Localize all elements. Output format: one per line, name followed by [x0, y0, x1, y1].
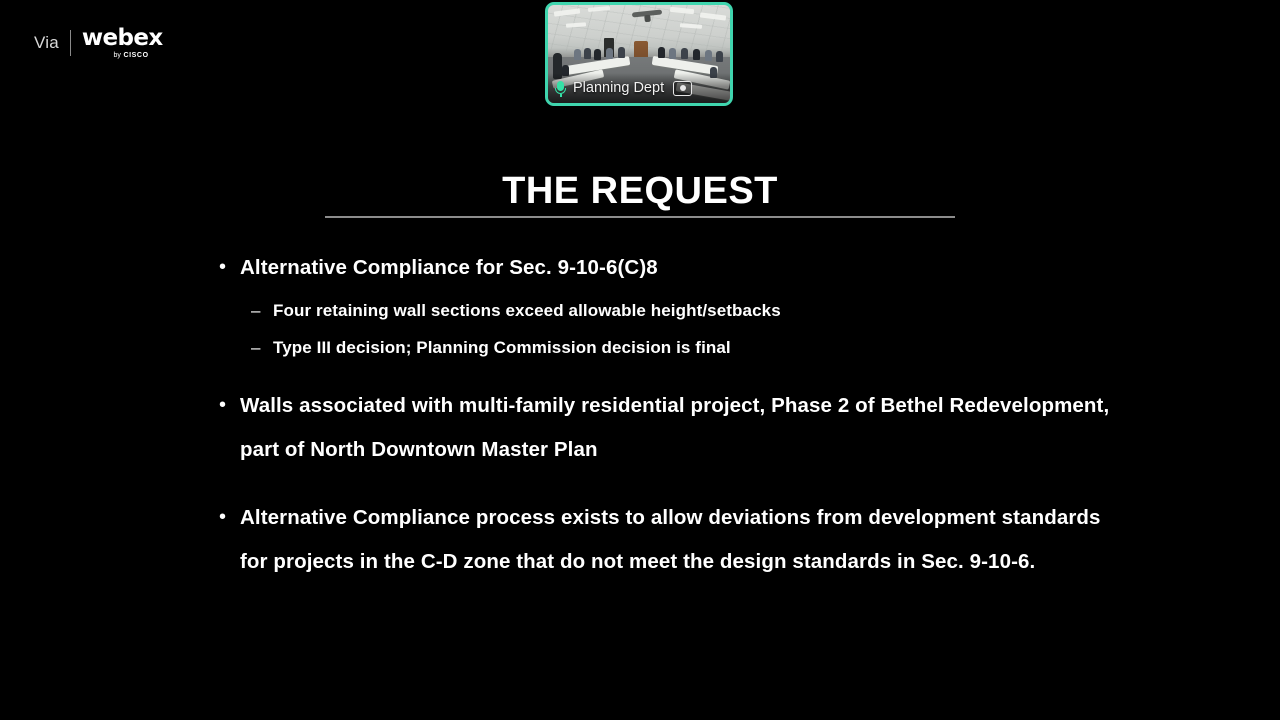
attendee — [658, 47, 665, 58]
attendee — [574, 49, 581, 60]
bullet-item: • Walls associated with multi-family res… — [210, 384, 1110, 472]
spacer — [210, 474, 1110, 496]
screen-share-icon[interactable] — [673, 81, 692, 96]
bullet-item: • Alternative Compliance for Sec. 9-10-6… — [210, 246, 1110, 290]
bullet-text: Walls associated with multi-family resid… — [240, 384, 1110, 472]
participant-name: Planning Dept — [573, 80, 664, 96]
webex-wordmark: webex — [82, 27, 163, 50]
cisco-byline: by CISCO — [114, 52, 149, 59]
sub-bullet-text: Four retaining wall sections exceed allo… — [273, 292, 781, 329]
attendee — [606, 48, 613, 59]
watermark-divider — [70, 30, 71, 56]
attendee — [594, 49, 601, 60]
sub-bullet-item: – Type III decision; Planning Commission… — [251, 329, 1110, 366]
slide-title: THE REQUEST — [0, 170, 1280, 213]
attendee — [669, 48, 676, 59]
sub-bullet-marker: – — [251, 329, 273, 366]
watermark-via-label: Via — [34, 33, 70, 53]
attendee — [716, 51, 723, 62]
cisco-byline-prefix: by — [114, 52, 121, 59]
attendee — [705, 50, 712, 61]
bullet-marker: • — [210, 246, 240, 288]
attendee — [618, 47, 625, 58]
webex-logo: webex by CISCO — [82, 27, 163, 59]
bullet-text: Alternative Compliance for Sec. 9-10-6(C… — [240, 246, 658, 290]
attendee — [584, 48, 591, 59]
cisco-byline-brand: CISCO — [123, 52, 148, 59]
spacer — [210, 366, 1110, 384]
slide-body: • Alternative Compliance for Sec. 9-10-6… — [210, 246, 1110, 586]
participant-label-bar: Planning Dept — [548, 73, 730, 103]
bullet-marker: • — [210, 496, 240, 538]
sub-bullet-text: Type III decision; Planning Commission d… — [273, 329, 731, 366]
sub-bullet-marker: – — [251, 292, 273, 329]
attendee — [693, 49, 700, 60]
sub-bullet-item: – Four retaining wall sections exceed al… — [251, 292, 1110, 329]
bullet-text: Alternative Compliance process exists to… — [240, 496, 1110, 584]
bullet-marker: • — [210, 384, 240, 426]
microphone-icon — [554, 80, 567, 97]
attendee — [681, 48, 688, 59]
webex-watermark: Via webex by CISCO — [34, 26, 163, 60]
participant-video-tile[interactable]: Planning Dept — [545, 2, 733, 106]
bullet-item: • Alternative Compliance process exists … — [210, 496, 1110, 584]
title-underline-rule — [325, 216, 955, 218]
